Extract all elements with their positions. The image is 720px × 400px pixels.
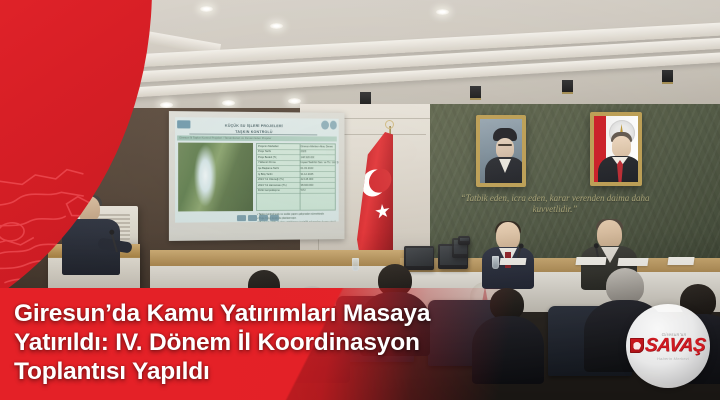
downlight-icon (200, 6, 213, 12)
slide-logo-right (321, 121, 337, 130)
water-glass-icon (492, 256, 499, 269)
presentation-slide: KÜÇÜK SU İŞLERİ PROJELERİ TAŞKIN KONTROL… (175, 117, 339, 222)
documents-on-desk (500, 258, 527, 265)
table-row: Fiziki Gerçekleşme%72 (257, 189, 335, 195)
downlight-icon (436, 9, 449, 15)
slide-subtitle: Giresun İli Taşkın Kontrol Projeleri / T… (177, 135, 337, 141)
wall-quote-text: “Tatbik eden, icra eden, karar verenden … (455, 193, 655, 215)
logo-main-row: SAVAŞ (630, 336, 705, 355)
ceiling-speaker-icon (562, 80, 573, 94)
article-headline: Giresun’da Kamu Yatırımları Masaya Yatır… (14, 299, 574, 386)
slide-title-line-2: TAŞKIN KONTROLÜ (235, 130, 272, 134)
desk-monitor (404, 246, 434, 270)
logo-tagline-bottom: Haberin Merkezi (657, 356, 689, 361)
ataturk-face (496, 138, 514, 159)
water-glass-icon (352, 258, 359, 271)
portrait-erdogan (590, 112, 642, 186)
portrait-ataturk (476, 115, 526, 187)
slide-control-bar (237, 215, 279, 221)
slide-bullet: • Menderes ıslahı ve dere yataklarının t… (257, 221, 336, 223)
documents-on-desk (575, 257, 606, 265)
news-header-image: KÜÇÜK SU İŞLERİ PROJELERİ TAŞKIN KONTROL… (0, 0, 720, 400)
seated-right-head (597, 220, 622, 249)
ceiling-speaker-icon (470, 86, 481, 100)
ceiling-speaker-icon (662, 70, 673, 84)
flag-finial (385, 120, 394, 129)
site-logo-watermark[interactable]: Giresun’un SAVAŞ Haberin Merkezi (626, 304, 710, 388)
logo-wordmark: SAVAŞ (644, 336, 706, 355)
ataturk-brows (498, 144, 512, 146)
headline-line-3: Toplantısı Yapıldı (14, 357, 574, 386)
seated-left-head (496, 222, 520, 250)
slide-data-table: Projenin MahalleriGiresun-Merkez-Aksu De… (256, 143, 336, 211)
desk-device (458, 236, 470, 245)
documents-on-desk (667, 257, 694, 265)
documents-on-desk (617, 258, 648, 266)
logo-crest-icon (630, 338, 644, 353)
headline-line-1: Giresun’da Kamu Yatırımları Masaya (14, 299, 574, 328)
downlight-icon (270, 23, 283, 29)
projection-screen: KÜÇÜK SU İŞLERİ PROJELERİ TAŞKIN KONTROL… (169, 111, 345, 241)
downlight-icon (222, 100, 235, 106)
star-icon (375, 203, 391, 221)
headline-line-2: Yatırıldı: IV. Dönem İl Koordinasyon (14, 328, 574, 357)
erdogan-face (612, 136, 631, 158)
slide-title-line-1: KÜÇÜK SU İŞLERİ PROJELERİ (225, 124, 283, 128)
slide-title: KÜÇÜK SU İŞLERİ PROJELERİ TAŞKIN KONTROL… (189, 120, 317, 135)
slide-photo-waterfall (178, 143, 253, 212)
